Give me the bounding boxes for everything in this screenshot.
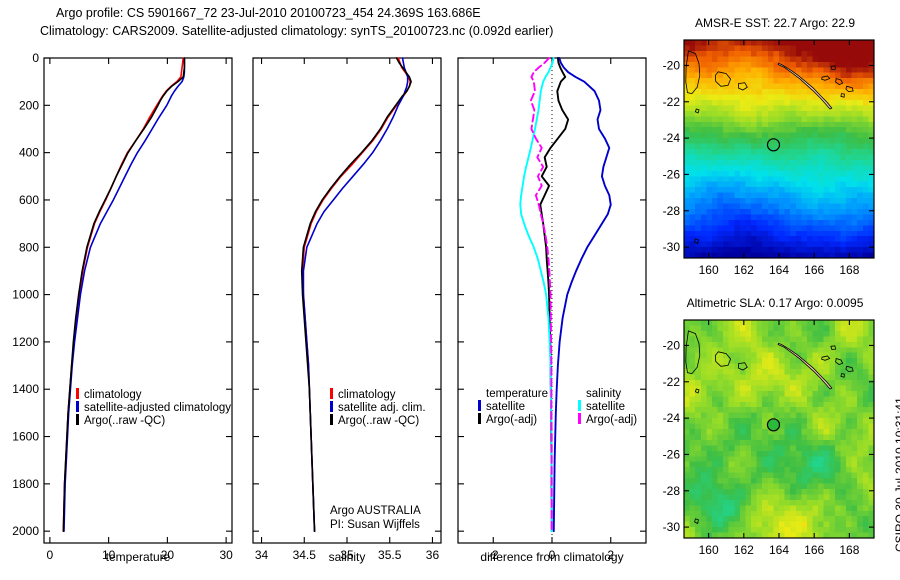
- legend-item-sal-satellite: satellite: [578, 400, 637, 413]
- legend-swatch-sal-argo: [578, 413, 581, 424]
- svg-text:164: 164: [769, 543, 789, 557]
- sla-map-plot[interactable]: 160162164166168-20-22-24-26-28-30: [660, 314, 898, 576]
- svg-text:2000: 2000: [12, 524, 39, 538]
- temperature-legend: climatology satellite-adjusted climatolo…: [76, 388, 231, 427]
- svg-text:0: 0: [32, 51, 39, 65]
- legend-item-satellite-adjusted-s: satellite adj. clim.: [330, 401, 426, 414]
- legend-item-climatology: climatology: [76, 388, 231, 401]
- legend-swatch-temp-argo: [478, 413, 481, 424]
- panel-sst-map[interactable]: 160162164166168-20-22-24-26-28-30: [660, 34, 898, 296]
- sla-profile-marker: [767, 419, 779, 431]
- svg-text:-30: -30: [663, 520, 681, 534]
- legend-label-sal-satellite: satellite: [586, 401, 625, 413]
- legend-heading-salinity: salinity: [578, 388, 637, 400]
- svg-text:160: 160: [699, 263, 719, 277]
- svg-text:-22: -22: [663, 95, 681, 109]
- figure-title-line1: Argo profile: CS 5901667_72 23-Jul-2010 …: [56, 6, 481, 20]
- svg-text:162: 162: [734, 543, 754, 557]
- legend-item-argo: Argo(..raw -QC): [76, 414, 231, 427]
- attribution-block: Argo AUSTRALIA PI: Susan Wijffels: [330, 504, 421, 532]
- panel-temperature: 0200400600800100012001400160018002000 01…: [0, 44, 250, 580]
- sst-raster: [684, 40, 875, 259]
- svg-text:-28: -28: [663, 204, 681, 218]
- salinity-legend: climatology satellite adj. clim. Argo(..…: [330, 388, 426, 427]
- legend-swatch-satellite-adjusted-s: [330, 401, 333, 412]
- svg-text:600: 600: [19, 193, 39, 207]
- svg-text:168: 168: [839, 263, 859, 277]
- svg-text:166: 166: [804, 263, 824, 277]
- legend-swatch-satellite-adjusted: [76, 401, 79, 412]
- svg-text:-22: -22: [663, 375, 681, 389]
- svg-text:164: 164: [769, 263, 789, 277]
- legend-item-sal-argo: Argo(-adj): [578, 413, 637, 426]
- legend-swatch-temp-satellite: [478, 400, 481, 411]
- difference-plot[interactable]: -202: [455, 44, 660, 580]
- legend-swatch-argo: [76, 414, 79, 425]
- legend-label-argo: Argo(..raw -QC): [84, 415, 165, 427]
- svg-text:-26: -26: [663, 167, 681, 181]
- difference-legend-temperature: temperature satellite Argo(-adj): [478, 388, 548, 426]
- legend-item-temp-argo: Argo(-adj): [478, 413, 548, 426]
- legend-swatch-argo-s: [330, 414, 333, 425]
- attribution-line1: Argo AUSTRALIA: [330, 504, 421, 518]
- svg-text:1800: 1800: [12, 477, 39, 491]
- svg-text:-20: -20: [663, 338, 681, 352]
- svg-text:200: 200: [19, 98, 39, 112]
- svg-text:1400: 1400: [12, 382, 39, 396]
- svg-text:800: 800: [19, 240, 39, 254]
- legend-label-climatology-s: climatology: [338, 389, 396, 401]
- svg-text:-30: -30: [663, 240, 681, 254]
- attribution-line2: PI: Susan Wijffels: [330, 518, 421, 532]
- legend-item-temp-satellite: satellite: [478, 400, 548, 413]
- legend-swatch-sal-satellite: [578, 400, 581, 411]
- svg-text:168: 168: [839, 543, 859, 557]
- legend-label-temp-satellite: satellite: [486, 401, 525, 413]
- sla-map-title: Altimetric SLA: 0.17 Argo: 0.0095: [660, 296, 890, 310]
- panel-sla-map[interactable]: 160162164166168-20-22-24-26-28-30: [660, 314, 898, 576]
- svg-text:-24: -24: [663, 131, 681, 145]
- legend-heading-temperature: temperature: [478, 388, 548, 400]
- svg-text:-20: -20: [663, 58, 681, 72]
- svg-text:400: 400: [19, 146, 39, 160]
- temperature-plot[interactable]: 0200400600800100012001400160018002000 01…: [0, 44, 250, 580]
- legend-item-satellite-adjusted: satellite-adjusted climatology: [76, 401, 231, 414]
- panel-salinity: 3434.53535.536 salinity: [250, 44, 455, 580]
- sst-map-plot[interactable]: 160162164166168-20-22-24-26-28-30: [660, 34, 898, 296]
- svg-text:160: 160: [699, 543, 719, 557]
- legend-swatch-climatology: [76, 388, 79, 399]
- panel-difference: -202 difference from climatology: [455, 44, 660, 580]
- figure-title-line2: Climatology: CARS2009. Satellite-adjuste…: [40, 24, 553, 38]
- svg-text:1600: 1600: [12, 430, 39, 444]
- svg-text:-28: -28: [663, 484, 681, 498]
- difference-legend-salinity: salinity satellite Argo(-adj): [578, 388, 637, 426]
- salinity-axis-label: salinity: [253, 550, 441, 564]
- legend-label-climatology: climatology: [84, 389, 142, 401]
- sst-map-title: AMSR-E SST: 22.7 Argo: 22.9: [660, 16, 890, 30]
- difference-axis-label: difference from climatology: [458, 550, 646, 564]
- legend-label-satellite-adjusted-s: satellite adj. clim.: [338, 402, 426, 414]
- svg-text:166: 166: [804, 543, 824, 557]
- legend-item-argo-s: Argo(..raw -QC): [330, 414, 426, 427]
- legend-item-climatology-s: climatology: [330, 388, 426, 401]
- legend-label-satellite-adjusted: satellite-adjusted climatology: [84, 402, 231, 414]
- legend-label-temp-argo: Argo(-adj): [486, 414, 537, 426]
- svg-text:1000: 1000: [12, 288, 39, 302]
- salinity-plot[interactable]: 3434.53535.536: [250, 44, 455, 580]
- legend-label-argo-s: Argo(..raw -QC): [338, 415, 419, 427]
- sla-raster: [684, 320, 875, 539]
- legend-label-sal-argo: Argo(-adj): [586, 414, 637, 426]
- svg-text:1200: 1200: [12, 335, 39, 349]
- svg-text:-26: -26: [663, 447, 681, 461]
- temperature-axis-label: temperature: [44, 550, 232, 564]
- svg-text:-24: -24: [663, 411, 681, 425]
- svg-text:162: 162: [734, 263, 754, 277]
- csiro-credit: CSIRO 30-Jul-2010 10:31:41: [893, 397, 900, 552]
- legend-swatch-climatology-s: [330, 388, 333, 399]
